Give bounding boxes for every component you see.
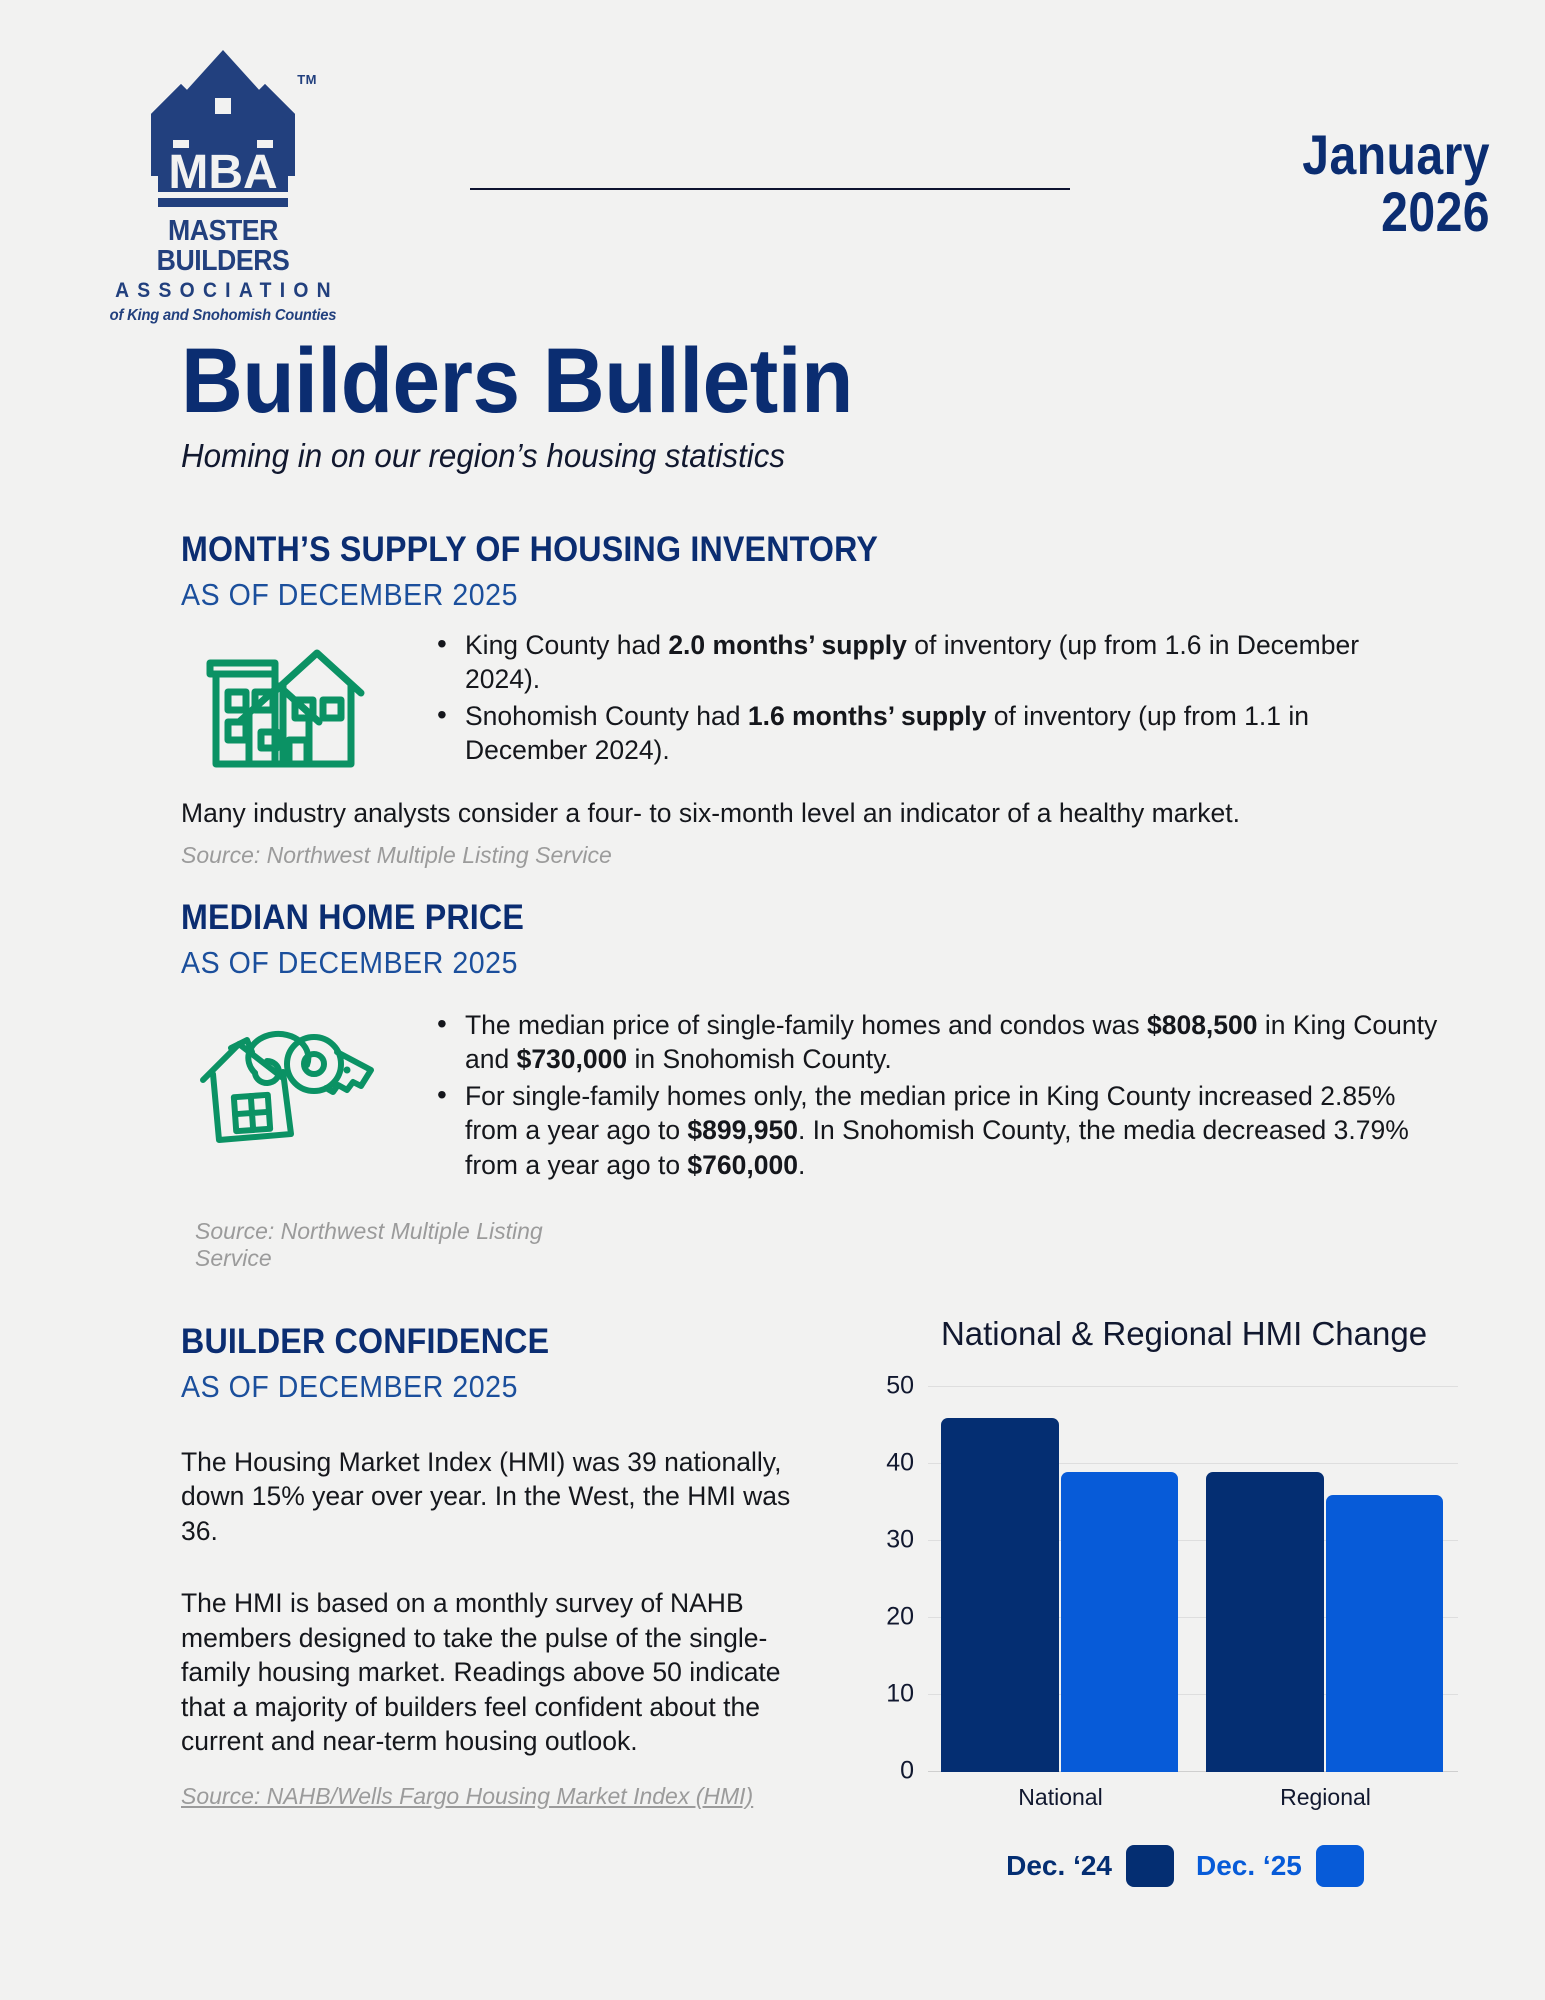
mba-logo: MBA TM MASTER BUILDERS ASSOCIATION of Ki… [88, 36, 358, 325]
chart-y-tick-label: 40 [886, 1449, 914, 1478]
bullet-text-pre: Snohomish County had [465, 701, 748, 731]
logo-name-line3: of King and Snohomish Counties [95, 307, 352, 325]
section-heading-confidence: BUILDER CONFIDENCE [181, 1322, 770, 1362]
mba-houses-monogram-icon: MBA [123, 36, 323, 216]
confidence-source-link[interactable]: Source: NAHB/Wells Fargo Housing Market … [181, 1783, 821, 1810]
houses-icon-glyph [195, 640, 375, 775]
supply-note: Many industry analysts consider a four- … [181, 796, 1491, 830]
builders-bulletin-page: MBA TM MASTER BUILDERS ASSOCIATION of Ki… [0, 0, 1545, 2000]
section-builder-confidence: BUILDER CONFIDENCE AS OF DECEMBER 2025 T… [181, 1322, 821, 1810]
page-tagline: Homing in on our region’s housing statis… [181, 437, 867, 475]
section-median-home-price: MEDIAN HOME PRICE AS OF DECEMBER 2025 [181, 898, 554, 981]
supply-source: Source: Northwest Multiple Listing Servi… [181, 842, 612, 869]
logo-name-line2: ASSOCIATION [106, 277, 347, 305]
header-divider-rule [470, 188, 1070, 190]
chart-y-tick-label: 20 [886, 1603, 914, 1632]
mba-logo-mark: MBA TM [123, 36, 323, 216]
chart-legend: Dec. ‘24 Dec. ‘25 [890, 1845, 1480, 1887]
section-supply-body: King County had 2.0 months’ supply of in… [431, 628, 1431, 770]
section-subheading-confidence: AS OF DECEMBER 2025 [181, 1369, 770, 1405]
page-title: Builders Bulletin [181, 335, 853, 427]
trademark-symbol: TM [297, 72, 317, 87]
chart-x-tick-label: Regional [1280, 1784, 1371, 1811]
section-heading-supply: MONTH’S SUPPLY OF HOUSING INVENTORY [181, 530, 878, 570]
chart-title: National & Regional HMI Change [888, 1315, 1480, 1353]
list-item: For single-family homes only, the median… [431, 1079, 1441, 1182]
chart-bar [941, 1418, 1059, 1772]
bullet-text-bold: 2.0 months’ supply [668, 630, 907, 660]
bullet-text-pre: King County had [465, 630, 668, 660]
chart-plot-area: 01020304050NationalRegional [928, 1387, 1458, 1772]
hmi-chart-panel: National & Regional HMI Change 010203040… [860, 1315, 1480, 1925]
bullet-text-bold: 1.6 months’ supply [748, 701, 987, 731]
house-key-icon-glyph [195, 1018, 380, 1148]
legend-swatch-dec24 [1126, 1845, 1174, 1887]
chart-y-tick-label: 30 [886, 1526, 914, 1555]
house-key-icon [195, 1018, 380, 1153]
section-heading-price: MEDIAN HOME PRICE [181, 898, 524, 938]
section-subheading-supply: AS OF DECEMBER 2025 [181, 577, 878, 613]
svg-text:MBA: MBA [168, 146, 277, 199]
houses-icon [195, 640, 375, 780]
price-bullet-list: The median price of single-family homes … [431, 1008, 1441, 1182]
chart-bar [1206, 1472, 1324, 1772]
list-item: The median price of single-family homes … [431, 1008, 1441, 1077]
supply-bullet-list: King County had 2.0 months’ supply of in… [431, 628, 1431, 768]
issue-year: 2026 [1129, 183, 1490, 240]
price-source: Source: Northwest Multiple Listing Servi… [195, 1218, 554, 1272]
bullet-text-bold: $899,950 [687, 1115, 798, 1145]
legend-swatch-dec25 [1316, 1845, 1364, 1887]
page-header: MBA TM MASTER BUILDERS ASSOCIATION of Ki… [0, 28, 1545, 298]
logo-name-line1: MASTER BUILDERS [99, 216, 347, 277]
legend-item-dec24[interactable]: Dec. ‘24 [1006, 1845, 1174, 1887]
list-item: Snohomish County had 1.6 months’ supply … [431, 699, 1431, 768]
chart-bar [1061, 1472, 1179, 1772]
section-months-supply: MONTH’S SUPPLY OF HOUSING INVENTORY AS O… [181, 530, 939, 613]
masthead: Builders Bulletin Homing in on our regio… [181, 335, 903, 475]
confidence-paragraph-1: The Housing Market Index (HMI) was 39 na… [181, 1445, 791, 1548]
chart-y-tick-label: 10 [886, 1680, 914, 1709]
section-subheading-price: AS OF DECEMBER 2025 [181, 945, 524, 981]
chart-gridline: 50 [928, 1386, 1458, 1387]
list-item: King County had 2.0 months’ supply of in… [431, 628, 1431, 697]
chart-bar [1326, 1495, 1444, 1772]
bullet-text-bold2: $760,000 [687, 1150, 798, 1180]
legend-label: Dec. ‘24 [1006, 1850, 1112, 1882]
chart-x-tick-label: National [1018, 1784, 1102, 1811]
legend-item-dec25[interactable]: Dec. ‘25 [1196, 1845, 1364, 1887]
bullet-text-bold: $808,500 [1147, 1010, 1258, 1040]
bullet-text-bold2: $730,000 [517, 1044, 628, 1074]
confidence-paragraph-2: The HMI is based on a monthly survey of … [181, 1586, 801, 1758]
issue-date: January 2026 [1129, 126, 1490, 240]
section-price-body: The median price of single-family homes … [431, 1008, 1441, 1184]
bullet-text-post: . [798, 1150, 805, 1180]
bullet-text-pre: The median price of single-family homes … [465, 1010, 1147, 1040]
issue-month: January [1129, 126, 1490, 183]
bullet-text-post: in Snohomish County. [627, 1044, 892, 1074]
legend-label: Dec. ‘25 [1196, 1850, 1302, 1882]
chart-y-tick-label: 50 [886, 1372, 914, 1401]
chart-y-tick-label: 0 [900, 1757, 914, 1786]
